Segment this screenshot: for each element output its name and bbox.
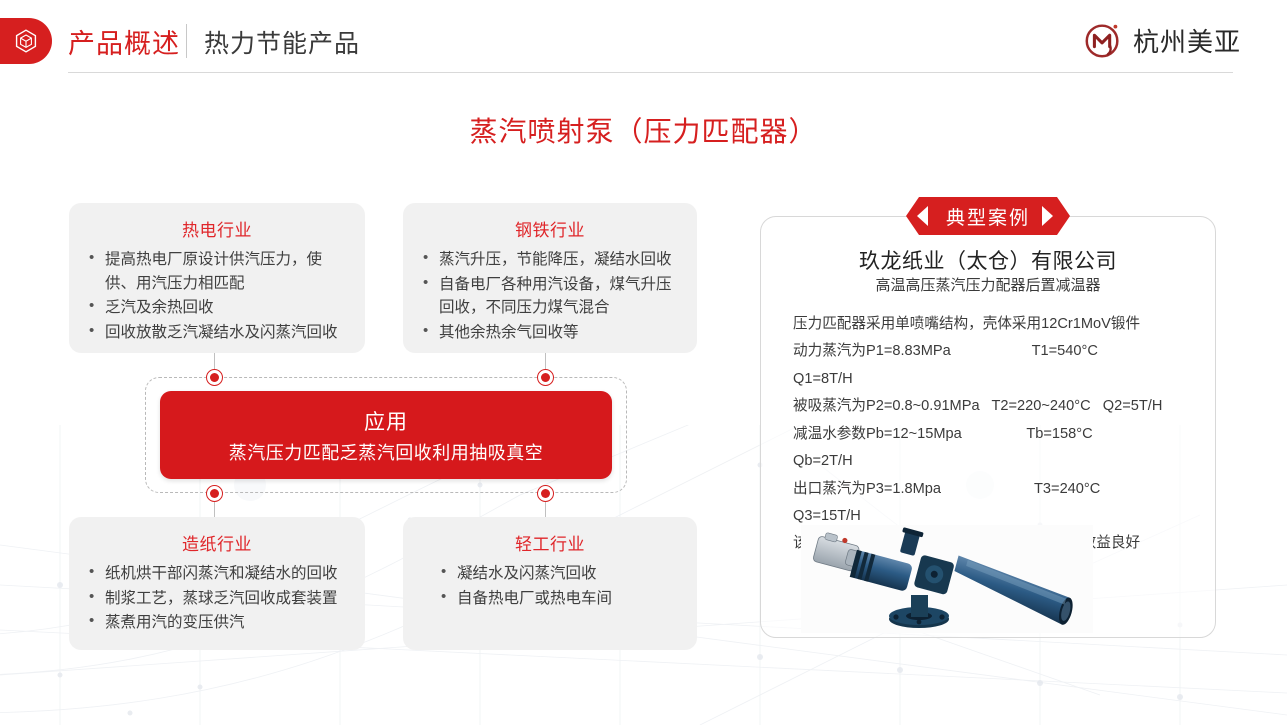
- spec-line: 动力蒸汽为P1=8.83MPa T1=540°C: [793, 338, 1197, 365]
- spec-line: 压力匹配器采用单喷嘴结构，壳体采用12Cr1MoV锻件: [793, 311, 1197, 338]
- card-bullet-list: 蒸汽升压，节能降压，凝结水回收 自备电厂各种用汽设备，煤气升压回收，不同压力煤气…: [419, 248, 681, 344]
- slide-root: 产品概述 热力节能产品 杭州美亚 蒸汽喷射泵（压力匹配器） 热电行业: [0, 0, 1287, 725]
- card-title: 钢铁行业: [419, 216, 681, 241]
- spec-line: 减温水参数Pb=12~15Mpa Tb=158°C: [793, 421, 1197, 448]
- list-item: 蒸汽升压，节能降压，凝结水回收: [419, 248, 681, 272]
- connector-node-bottom-left: [206, 485, 223, 502]
- list-item: 纸机烘干部闪蒸汽和凝结水的回收: [85, 562, 349, 586]
- list-item: 蒸煮用汽的变压供汽: [85, 611, 349, 635]
- steam-ejector-pump-photo: [801, 525, 1093, 633]
- industry-card-light-industry[interactable]: 轻工行业 凝结水及闪蒸汽回收 自备热电厂或热电车间: [403, 517, 697, 650]
- card-title: 轻工行业: [419, 530, 681, 555]
- typical-case-panel: 玖龙纸业（太仓）有限公司 高温高压蒸汽压力配器后置减温器 压力匹配器采用单喷嘴结…: [760, 216, 1216, 638]
- industry-card-thermal-power[interactable]: 热电行业 提高热电厂原设计供汽压力，使供、用汽压力相匹配 乏汽及余热回收 回收放…: [69, 203, 365, 353]
- list-item: 制浆工艺，蒸球乏汽回收成套装置: [85, 587, 349, 611]
- list-item: 自备电厂各种用汽设备，煤气升压回收，不同压力煤气混合: [419, 273, 681, 320]
- ribbon-arrow-left-icon: [917, 206, 928, 226]
- industry-card-paper[interactable]: 造纸行业 纸机烘干部闪蒸汽和凝结水的回收 制浆工艺，蒸球乏汽回收成套装置 蒸煮用…: [69, 517, 365, 650]
- card-title: 造纸行业: [85, 530, 349, 555]
- list-item: 提高热电厂原设计供汽压力，使供、用汽压力相匹配: [85, 248, 349, 295]
- page-title: 产品概述: [68, 22, 180, 61]
- case-subtitle: 高温高压蒸汽压力配器后置减温器: [761, 274, 1215, 295]
- main-title: 蒸汽喷射泵（压力匹配器）: [0, 110, 1287, 150]
- brand-name: 杭州美亚: [1133, 22, 1241, 59]
- spec-line: Qb=2T/H: [793, 448, 1197, 475]
- application-title: 应用: [160, 406, 612, 436]
- card-bullet-list: 提高热电厂原设计供汽压力，使供、用汽压力相匹配 乏汽及余热回收 回收放散乏汽凝结…: [85, 248, 349, 344]
- spec-line: 被吸蒸汽为P2=0.8~0.91MPa T2=220~240°C Q2=5T/H: [793, 393, 1197, 420]
- card-bullet-list: 凝结水及闪蒸汽回收 自备热电厂或热电车间: [419, 562, 681, 610]
- list-item: 自备热电厂或热电车间: [419, 587, 681, 611]
- list-item: 乏汽及余热回收: [85, 296, 349, 320]
- connector-node-top-right: [537, 369, 554, 386]
- application-center-box[interactable]: 应用 蒸汽压力匹配乏蒸汽回收利用抽吸真空: [160, 391, 612, 479]
- industry-card-steel[interactable]: 钢铁行业 蒸汽升压，节能降压，凝结水回收 自备电厂各种用汽设备，煤气升压回收，不…: [403, 203, 697, 353]
- spec-line: 出口蒸汽为P3=1.8Mpa T3=240°C: [793, 476, 1197, 503]
- spec-line: Q1=8T/H: [793, 366, 1197, 393]
- cube-hexagon-icon: [13, 28, 39, 54]
- list-item: 回收放散乏汽凝结水及闪蒸汽回收: [85, 321, 349, 345]
- application-diagram: 热电行业 提高热电厂原设计供汽压力，使供、用汽压力相匹配 乏汽及余热回收 回收放…: [55, 195, 715, 645]
- header-rule: [68, 72, 1233, 73]
- card-title: 热电行业: [85, 216, 349, 241]
- page-subtitle: 热力节能产品: [204, 24, 360, 60]
- application-subtitle: 蒸汽压力匹配乏蒸汽回收利用抽吸真空: [160, 439, 612, 465]
- meiya-logo-icon: [1082, 19, 1124, 61]
- brand-logo: 杭州美亚: [1082, 19, 1241, 61]
- card-bullet-list: 纸机烘干部闪蒸汽和凝结水的回收 制浆工艺，蒸球乏汽回收成套装置 蒸煮用汽的变压供…: [85, 562, 349, 635]
- list-item: 凝结水及闪蒸汽回收: [419, 562, 681, 586]
- header-badge: [0, 18, 52, 64]
- page-header: 产品概述 热力节能产品 杭州美亚: [0, 0, 1287, 80]
- connector-node-bottom-right: [537, 485, 554, 502]
- ribbon-arrow-right-icon: [1042, 206, 1053, 226]
- connector-node-top-left: [206, 369, 223, 386]
- case-company-name: 玖龙纸业（太仓）有限公司: [761, 245, 1215, 275]
- header-divider: [186, 24, 187, 58]
- list-item: 其他余热余气回收等: [419, 321, 681, 345]
- case-spec-list: 压力匹配器采用单喷嘴结构，壳体采用12Cr1MoV锻件 动力蒸汽为P1=8.83…: [793, 311, 1197, 558]
